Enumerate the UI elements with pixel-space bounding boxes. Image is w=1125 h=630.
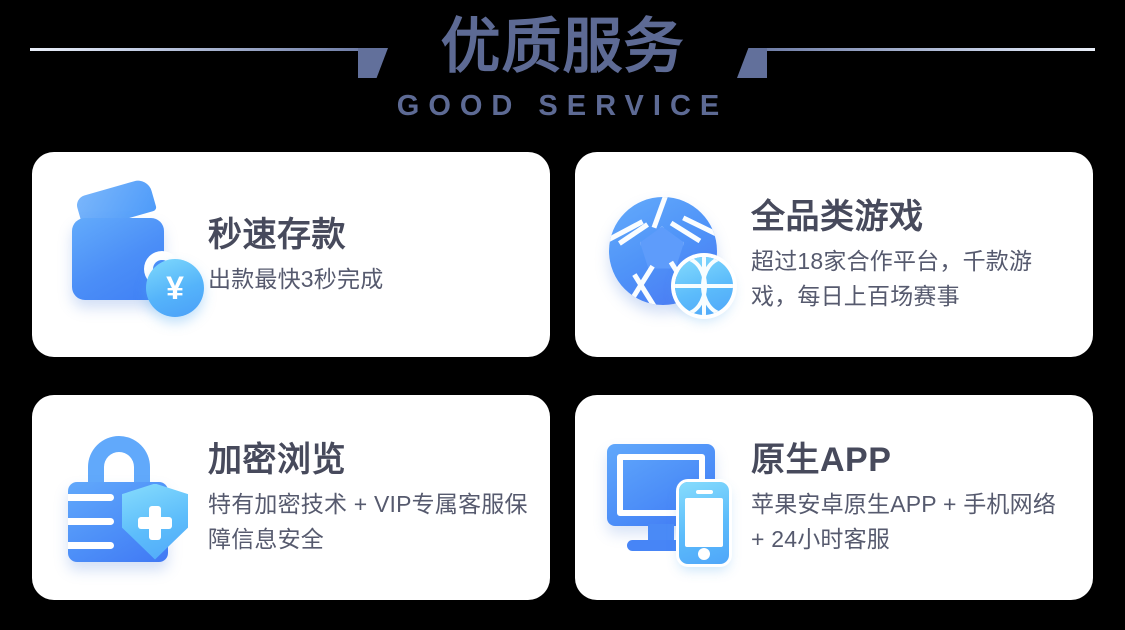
- card-title: 秒速存款: [208, 213, 530, 257]
- cross-icon: [138, 517, 172, 529]
- soccer-seam: [652, 197, 672, 229]
- lock-shield-icon: [58, 428, 198, 568]
- page-title: 优质服务: [0, 10, 1125, 84]
- lock-slot: [68, 542, 114, 549]
- card-title: 全品类游戏: [751, 195, 1073, 239]
- wallet-icon: ¥: [58, 185, 198, 325]
- page-header: 优质服务 GOOD SERVICE: [0, 0, 1125, 148]
- phone-screen: [685, 498, 723, 547]
- feature-card-grid: ¥ 秒速存款 出款最快3秒完成: [32, 152, 1093, 600]
- card-text-block: 原生APP 苹果安卓原生APP + 手机网络 + 24小时客服: [751, 438, 1073, 557]
- soccer-basketball-icon: [601, 185, 741, 325]
- feature-card-encryption[interactable]: 加密浏览 特有加密技术 + VIP专属客服保障信息安全: [32, 395, 550, 600]
- card-text-block: 全品类游戏 超过18家合作平台，千款游戏，每日上百场赛事: [751, 195, 1073, 314]
- monitor-stand-neck: [648, 524, 674, 542]
- feature-card-deposit[interactable]: ¥ 秒速存款 出款最快3秒完成: [32, 152, 550, 357]
- feature-card-native-app[interactable]: 原生APP 苹果安卓原生APP + 手机网络 + 24小时客服: [575, 395, 1093, 600]
- card-description: 超过18家合作平台，千款游戏，每日上百场赛事: [751, 244, 1073, 314]
- header-titles: 优质服务 GOOD SERVICE: [0, 10, 1125, 126]
- card-description: 特有加密技术 + VIP专属客服保障信息安全: [208, 487, 530, 557]
- feature-card-games[interactable]: 全品类游戏 超过18家合作平台，千款游戏，每日上百场赛事: [575, 152, 1093, 357]
- page-subtitle: GOOD SERVICE: [0, 86, 1125, 126]
- basketball: [675, 257, 733, 315]
- phone-speaker: [696, 490, 713, 494]
- yuan-coin-badge: ¥: [146, 259, 204, 317]
- lock-slot: [68, 494, 114, 501]
- monitor-phone-icon: [601, 428, 741, 568]
- card-description: 苹果安卓原生APP + 手机网络 + 24小时客服: [751, 487, 1073, 557]
- card-title: 原生APP: [751, 438, 1073, 482]
- card-title: 加密浏览: [208, 438, 530, 482]
- smartphone: [679, 482, 729, 564]
- lock-slot: [68, 518, 114, 525]
- card-description: 出款最快3秒完成: [208, 262, 530, 297]
- card-text-block: 加密浏览 特有加密技术 + VIP专属客服保障信息安全: [208, 438, 530, 557]
- phone-home-button: [698, 548, 710, 560]
- card-text-block: 秒速存款 出款最快3秒完成: [208, 213, 530, 297]
- basketball-seam: [701, 257, 733, 315]
